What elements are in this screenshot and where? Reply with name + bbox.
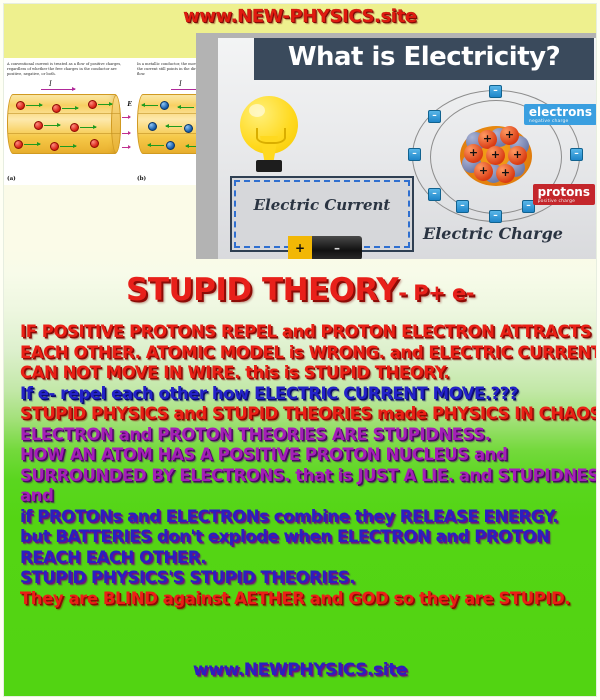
electron-particle: –	[428, 110, 441, 123]
proton-particle: +	[474, 162, 493, 181]
positive-charge	[52, 104, 61, 113]
lightbulb-icon	[236, 96, 302, 174]
electrons-tag-label: electrons	[529, 105, 592, 119]
body-line: if PROTONs and ELECTRONs combine they RE…	[20, 507, 588, 528]
current-symbol-a: I	[49, 80, 52, 88]
body-line: IF POSITIVE PROTONS REPEL and PROTON ELE…	[20, 322, 588, 343]
proton-particle: +	[464, 144, 483, 163]
electric-current-circuit: Electric Current + –	[230, 176, 414, 252]
body-line: EACH OTHER. ATOMIC MODEL is WRONG. and E…	[20, 343, 588, 364]
infographic-title-bar: What is Electricity?	[254, 38, 594, 80]
battery-negative-terminal: –	[312, 236, 362, 259]
current-symbol-b: I	[179, 80, 182, 88]
poster-root: www.NEW-PHYSICS.site A conventional curr…	[0, 0, 600, 700]
body-line: STUPID PHYSICS'S STUPID THEORIES.	[20, 568, 588, 589]
electrons-tag-sublabel: negative charge	[529, 119, 592, 125]
headline-suffix: - P+ e-	[398, 281, 474, 305]
figure-panel-a: A conventional current is treated as a f…	[7, 62, 129, 182]
protons-tag-sublabel: positive charge	[538, 199, 590, 205]
body-line: REACH EACH OTHER.	[20, 548, 588, 569]
positive-charge	[16, 101, 25, 110]
negative-charge	[148, 122, 157, 131]
positive-charge	[90, 139, 99, 148]
infographic-title: What is Electricity?	[254, 42, 594, 72]
figure-caption-a: A conventional current is treated as a f…	[7, 62, 125, 78]
top-yellow-band-left-extension	[3, 33, 199, 60]
headline-main: STUPID THEORY	[126, 272, 398, 308]
positive-charge	[50, 142, 59, 151]
positive-charge	[34, 121, 43, 130]
electric-current-label: Electric Current	[232, 196, 412, 214]
electron-particle: –	[570, 148, 583, 161]
body-text-block: IF POSITIVE PROTONS REPEL and PROTON ELE…	[20, 322, 588, 609]
electron-particle: –	[408, 148, 421, 161]
proton-particle: +	[486, 146, 505, 165]
figure-letter-a: (a)	[7, 176, 16, 182]
proton-particle: +	[496, 164, 515, 183]
electric-charge-label: Electric Charge	[388, 224, 597, 243]
body-line: If e- repel each other how ELECTRIC CURR…	[20, 384, 588, 405]
electricity-infographic-panel: What is Electricity? Electric Current + …	[196, 33, 597, 259]
body-line: and	[20, 486, 588, 507]
body-line: They are BLIND against AETHER and GOD so…	[20, 589, 588, 610]
page-headline: STUPID THEORY- P+ e-	[0, 272, 600, 308]
body-line: but BATTERIES don't explode when ELECTRO…	[20, 527, 588, 548]
positive-charge	[70, 123, 79, 132]
infographic-canvas: What is Electricity? Electric Current + …	[218, 38, 597, 259]
proton-particle: +	[508, 146, 527, 165]
battery-positive-terminal: +	[288, 236, 312, 259]
protons-tag: protons positive charge	[533, 184, 595, 205]
electron-particle: –	[489, 210, 502, 223]
negative-charge	[166, 141, 175, 150]
positive-charge	[88, 100, 97, 109]
current-arrow-a	[41, 89, 75, 90]
electron-particle: –	[489, 85, 502, 98]
body-line: ELECTRON and PROTON THEORIES ARE STUPIDN…	[20, 425, 588, 446]
body-line: SURROUNDED BY ELECTRONS. that is JUST A …	[20, 466, 588, 487]
current-label-a: I	[7, 80, 129, 93]
negative-charge	[160, 101, 169, 110]
conductor-wire-a: E	[7, 94, 121, 154]
electron-particle: –	[456, 200, 469, 213]
figure-letter-b: (b)	[137, 176, 146, 182]
site-title-top: www.NEW-PHYSICS.site	[0, 6, 600, 27]
body-line: CAN NOT MOVE IN WIRE. this is STUPID THE…	[20, 363, 588, 384]
electron-particle: –	[428, 188, 441, 201]
negative-charge	[184, 124, 193, 133]
electrons-tag: electrons negative charge	[524, 104, 597, 125]
body-line: STUPID PHYSICS and STUPID THEORIES made …	[20, 404, 588, 425]
site-title-footer: www.NEWPHYSICS.site	[0, 660, 600, 680]
protons-tag-label: protons	[538, 185, 590, 199]
body-line: HOW AN ATOM HAS A POSITIVE PROTON NUCLEU…	[20, 445, 588, 466]
proton-particle: +	[500, 126, 519, 145]
atom-nucleus: + + + + + + +	[460, 126, 532, 186]
field-symbol-a: E	[127, 101, 132, 108]
battery-icon: + –	[288, 236, 362, 259]
positive-charge	[14, 140, 23, 149]
